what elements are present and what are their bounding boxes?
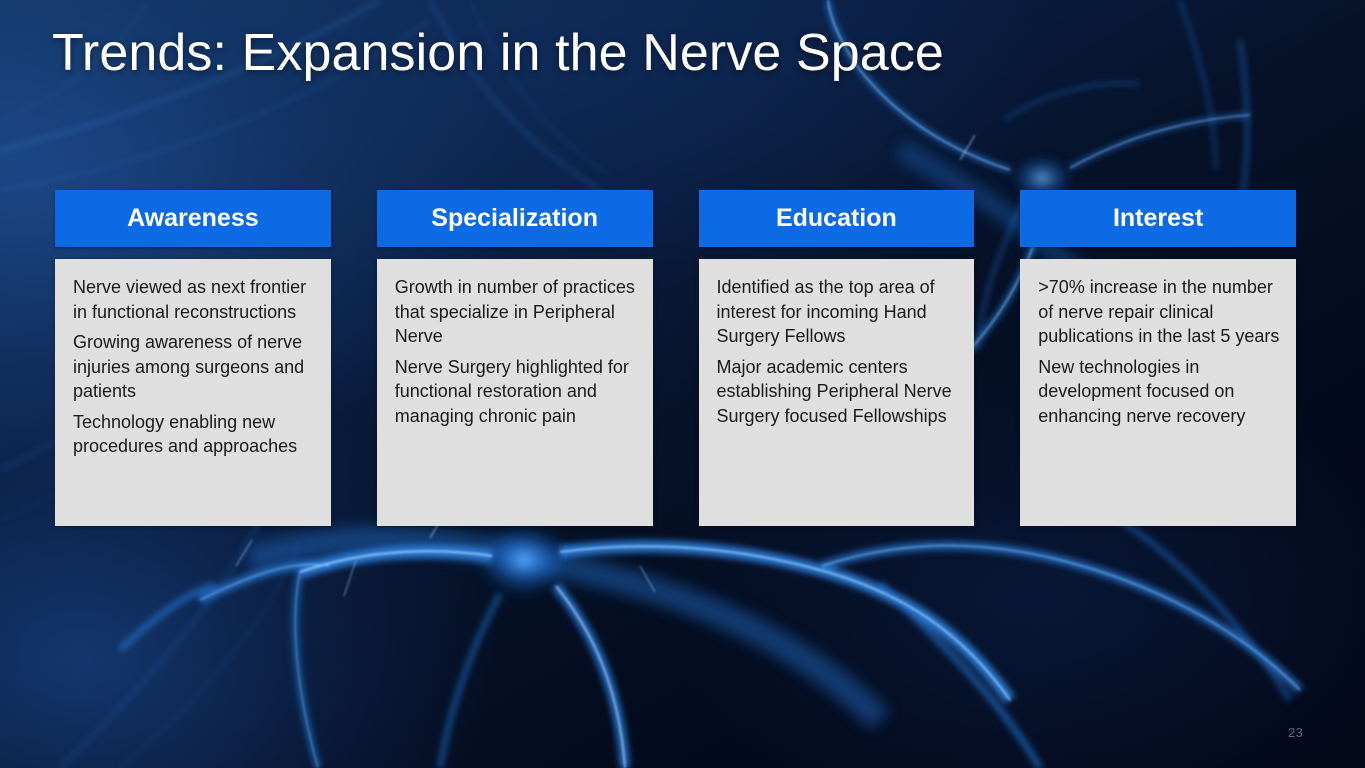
column-interest: Interest >70% increase in the number of … [1020, 190, 1296, 526]
column-header-interest: Interest [1020, 190, 1296, 247]
bullet-item: New technologies in development focused … [1038, 355, 1280, 429]
bullet-item: Identified as the top area of interest f… [717, 275, 959, 349]
bullet-item: Nerve viewed as next frontier in functio… [73, 275, 315, 324]
column-awareness: Awareness Nerve viewed as next frontier … [55, 190, 331, 526]
column-header-specialization: Specialization [377, 190, 653, 247]
bullet-item: Growth in number of practices that speci… [395, 275, 637, 349]
bullet-item: >70% increase in the number of nerve rep… [1038, 275, 1280, 349]
column-body-awareness: Nerve viewed as next frontier in functio… [55, 259, 331, 526]
trend-columns: Awareness Nerve viewed as next frontier … [55, 190, 1296, 526]
slide-page-number: 23 [1288, 725, 1303, 740]
column-body-specialization: Growth in number of practices that speci… [377, 259, 653, 526]
page-title: Trends: Expansion in the Nerve Space [52, 24, 944, 82]
column-specialization: Specialization Growth in number of pract… [377, 190, 653, 526]
bullet-item: Nerve Surgery highlighted for functional… [395, 355, 637, 429]
bullet-item: Major academic centers establishing Peri… [717, 355, 959, 429]
column-education: Education Identified as the top area of … [699, 190, 975, 526]
column-body-interest: >70% increase in the number of nerve rep… [1020, 259, 1296, 526]
bullet-item: Growing awareness of nerve injuries amon… [73, 330, 315, 404]
bullet-item: Technology enabling new procedures and a… [73, 410, 315, 459]
slide-canvas: Trends: Expansion in the Nerve Space Awa… [0, 0, 1365, 768]
column-header-education: Education [699, 190, 975, 247]
column-header-awareness: Awareness [55, 190, 331, 247]
column-body-education: Identified as the top area of interest f… [699, 259, 975, 526]
